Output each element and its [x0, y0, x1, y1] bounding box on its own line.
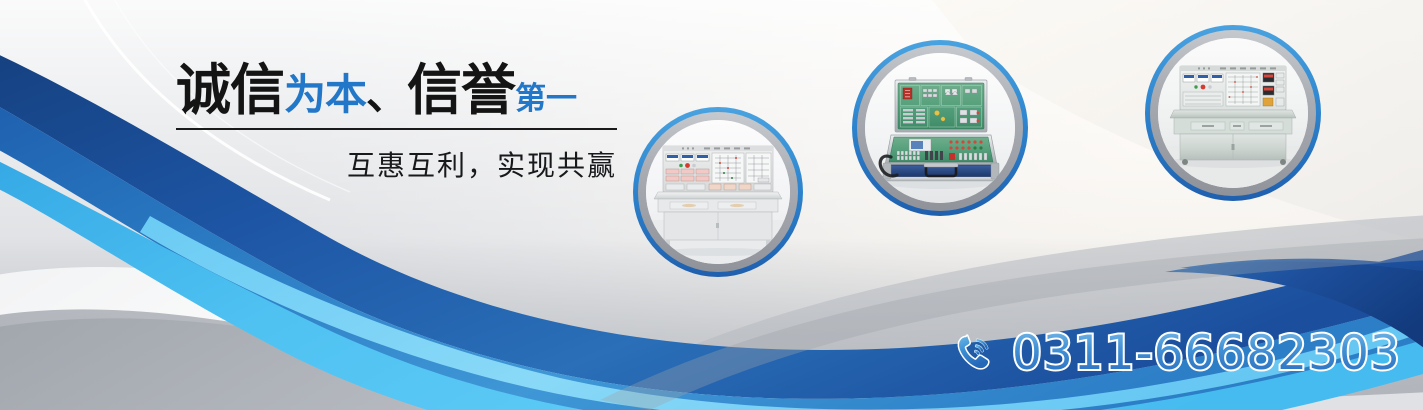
medallion-photo-area	[646, 120, 790, 264]
headline-divider	[176, 128, 617, 130]
medallion-electrical-test-bench[interactable]	[1145, 25, 1321, 201]
headline-part1: 诚信	[176, 58, 284, 122]
headline-part2: 为本	[284, 70, 366, 119]
headline-part3: 信誉	[407, 58, 515, 122]
headline-part4: 第一	[515, 81, 577, 117]
electrical-workbench-photo	[646, 120, 790, 264]
phone-number-wrap: 0311-66682303 0311-66682303	[1012, 326, 1401, 381]
contact-phone-strip[interactable]: 0311-66682303 0311-66682303	[952, 326, 1401, 381]
phone-number[interactable]: 0311-66682303	[1012, 326, 1401, 381]
promotional-banner: 诚信为本、信誉第一 互惠互利，实现共赢	[0, 0, 1423, 410]
headline-block: 诚信为本、信誉第一 互惠互利，实现共赢	[176, 62, 636, 184]
medallion-electrical-training-workbench[interactable]	[633, 107, 803, 277]
portable-training-case-photo	[865, 53, 1015, 203]
medallion-photo-area	[865, 53, 1015, 203]
page-title: 诚信为本、信誉第一	[176, 62, 636, 118]
medallion-photo-area	[1158, 38, 1308, 188]
phone-icon	[952, 331, 998, 377]
headline-separator: 、	[366, 70, 407, 119]
electrical-test-bench-photo	[1158, 38, 1308, 188]
subtitle: 互惠互利，实现共赢	[176, 144, 617, 184]
medallion-portable-electronics-training-case[interactable]	[852, 40, 1028, 216]
